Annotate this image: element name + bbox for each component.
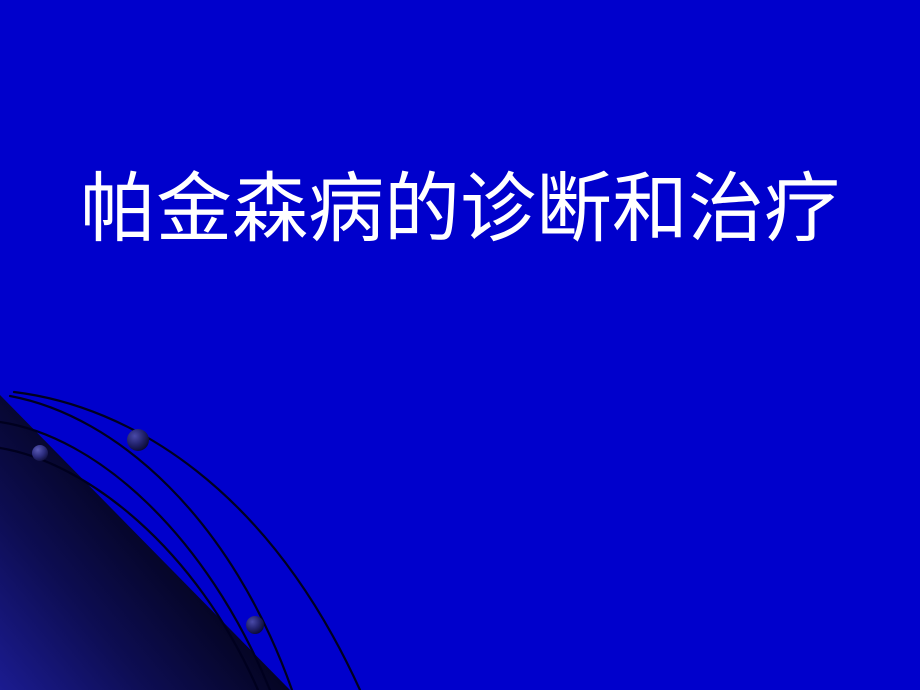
decorative-arc-4 [0,448,258,690]
decorative-node-large [127,429,149,451]
corner-wedge [0,395,290,690]
slide-title: 帕金森病的诊断和治疗 [80,166,840,251]
presentation-slide: 帕金森病的诊断和治疗 [0,0,920,690]
title-area: 帕金森病的诊断和治疗 [0,0,920,420]
decorative-arc-1 [14,392,360,690]
decorative-arc-3 [0,422,270,690]
decorative-node-medium [246,616,264,634]
decorative-node-small [32,445,48,461]
decorative-arc-2 [10,396,292,690]
